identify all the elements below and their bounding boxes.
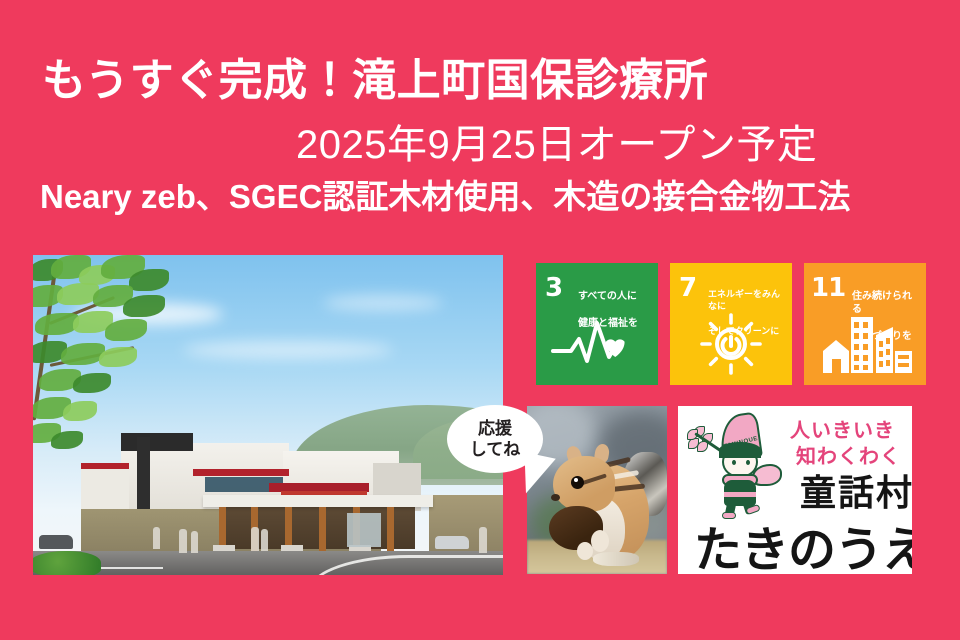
- page-title: もうすぐ完成！滝上町国保診療所: [42, 58, 708, 104]
- figure: [153, 527, 160, 549]
- canopy-post: [387, 507, 394, 551]
- logo-tagline-line-1: 人いきいき: [790, 414, 895, 443]
- entrance-door: [347, 513, 381, 547]
- building-red-roof-band: [193, 469, 289, 476]
- sdg-number: 11: [811, 275, 845, 301]
- mascot-hair: [719, 442, 761, 458]
- town-logo: TAKINOUE 人いきいき 知わくわく 童話村 たきのうえ: [678, 406, 912, 574]
- parked-car: [39, 535, 73, 549]
- takinoue-mascot: TAKINOUE: [686, 412, 790, 516]
- canopy-post: [319, 507, 326, 551]
- mascot-eye: [732, 460, 736, 465]
- heartbeat-heart-icon: [536, 313, 658, 375]
- speech-bubble-line-2: してね: [470, 439, 521, 460]
- cloud: [323, 295, 443, 311]
- speech-bubble: 応援 してね: [447, 405, 543, 473]
- entrance-recess: [219, 507, 415, 549]
- features-line: Neary zeb、SGEC認証木材使用、木造の接合金物工法: [40, 180, 850, 215]
- figure: [261, 529, 268, 551]
- sun-power-icon: [670, 313, 792, 375]
- figure: [479, 527, 487, 553]
- sdg-label-line-1: すべての人に: [578, 291, 637, 302]
- sdg-label-line-1: 住み続けられる: [852, 291, 912, 316]
- sdg-badge-row: 3 すべての人に 健康と福祉を 7 エネルギーをみんなに そしてクリーンに: [536, 263, 926, 385]
- chipmunk-paw: [577, 542, 593, 560]
- chipmunk-feet: [593, 552, 639, 566]
- sdg-number: 7: [679, 275, 697, 301]
- bush: [33, 551, 101, 575]
- tree-foliage: [33, 255, 200, 491]
- entrance-canopy: [203, 495, 433, 507]
- figure: [251, 527, 259, 551]
- city-buildings-icon: [804, 313, 926, 375]
- speech-bubble-text: 応援 してね: [470, 418, 521, 461]
- chipmunk-paw: [591, 530, 609, 552]
- parked-car: [435, 536, 469, 549]
- cloud: [183, 341, 393, 359]
- logo-title: 童話村: [800, 464, 912, 516]
- sdg-number: 3: [545, 275, 563, 301]
- sdg-badge-7[interactable]: 7 エネルギーをみんなに そしてクリーンに: [670, 263, 792, 385]
- figure: [191, 531, 198, 553]
- chipmunk-eye: [571, 476, 584, 489]
- sdg-label-line-1: エネルギーをみんなに: [708, 289, 780, 311]
- mascot-belt: [724, 492, 756, 497]
- clinic-rendering-image: [33, 255, 503, 575]
- opening-date-subtitle: 2025年9月25日オープン予定: [296, 124, 817, 166]
- mascot-eye: [746, 460, 750, 465]
- sdg-badge-3[interactable]: 3 すべての人に 健康と福祉を: [536, 263, 658, 385]
- poster-header: もうすぐ完成！滝上町国保診療所 2025年9月25日オープン予定 Neary z…: [0, 0, 960, 240]
- logo-town-name: たきのうえ: [694, 510, 912, 574]
- sdg-badge-11[interactable]: 11 住み続けられる まちづくりを: [804, 263, 926, 385]
- speech-bubble-line-1: 応援: [470, 418, 521, 439]
- chipmunk-nose: [551, 494, 560, 501]
- figure: [179, 529, 187, 553]
